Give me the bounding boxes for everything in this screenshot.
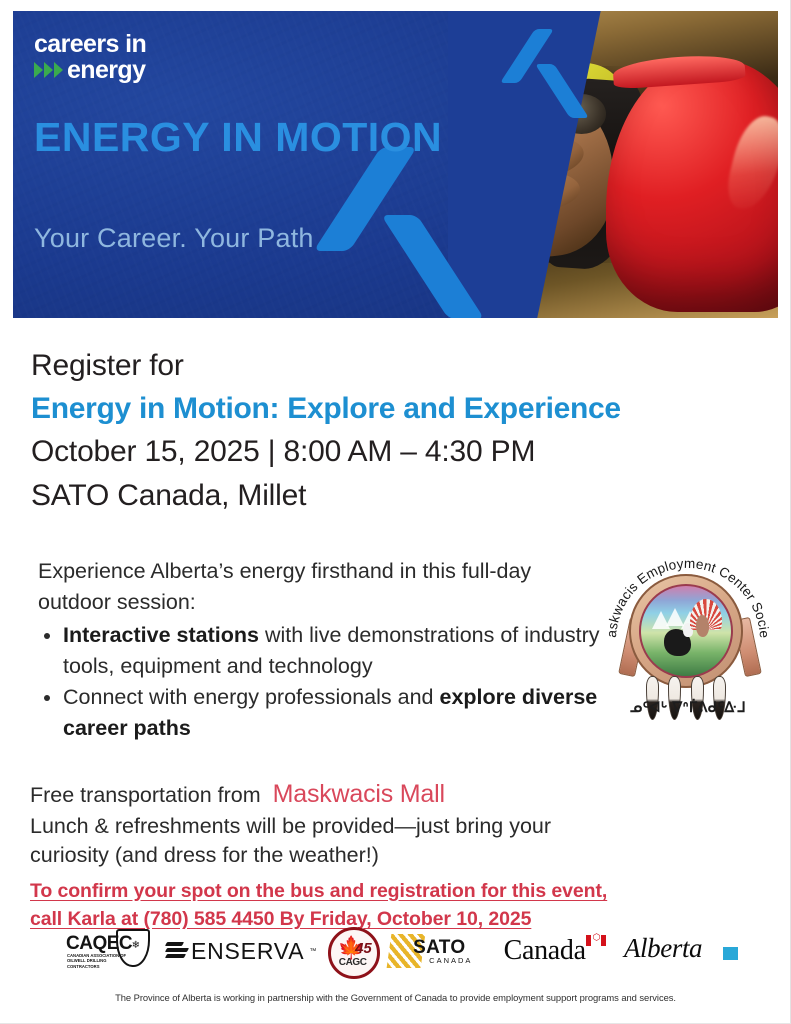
list-item: Connect with energy professionals and ex…	[63, 682, 603, 743]
register-label: Register for	[31, 344, 751, 388]
canada-flag-icon	[586, 935, 606, 946]
event-heading-block: Register for Energy in Motion: Explore a…	[31, 344, 751, 517]
session-highlights-list: Interactive stations with live demonstra…	[38, 620, 603, 744]
alberta-square-icon	[723, 947, 738, 960]
cagc-logo: 🍁 45 CAGC	[327, 926, 379, 976]
chevron-right-icon	[535, 27, 595, 107]
enserva-logo: ENSERVA ™	[166, 933, 316, 969]
cagc-circle-badge: 🍁 45 CAGC	[328, 927, 380, 979]
event-datetime: October 15, 2025 | 8:00 AM – 4:30 PM	[31, 430, 751, 474]
sato-canada-logo: SATO CANADA	[389, 930, 493, 972]
cagc-anniversary-number: 45	[355, 940, 372, 957]
flyer-page: careers in energy ENERGY IN MOTION Your …	[0, 0, 791, 1024]
government-of-canada-logo: Canada	[504, 933, 614, 969]
transport-prefix: Free transportation from	[30, 783, 261, 807]
maskwacis-employment-center-society-logo: Maskwacis Employment Center Society	[600, 548, 776, 728]
partnership-disclaimer: The Province of Alberta is working in pa…	[0, 992, 791, 1003]
event-venue: SATO Canada, Millet	[31, 474, 751, 518]
hero-photo	[448, 11, 778, 318]
trademark-symbol: ™	[309, 948, 316, 955]
enserva-wordmark: ENSERVA	[191, 938, 304, 965]
hero-banner: careers in energy ENERGY IN MOTION Your …	[13, 11, 778, 318]
event-title: Energy in Motion: Explore and Experience	[31, 388, 751, 431]
brand-line-1: careers in	[34, 32, 146, 56]
chief-head-shape	[696, 615, 709, 637]
triple-chevron-icon	[34, 62, 63, 78]
transport-block: Free transportation fromMaskwacis Mall L…	[30, 777, 620, 933]
maple-leaf-icon: ❄	[132, 941, 140, 951]
banner-subheadline: Your Career. Your Path	[34, 223, 314, 254]
transport-line-1: Free transportation fromMaskwacis Mall	[30, 777, 620, 812]
list-item: Interactive stations with live demonstra…	[63, 620, 603, 681]
brand-line-2: energy	[67, 58, 145, 82]
transport-line-2: Lunch & refreshments will be provided—ju…	[30, 812, 620, 842]
chief-shape	[688, 597, 724, 651]
sato-subtitle: CANADA	[429, 956, 472, 965]
intro-paragraph: Experience Alberta’s energy firsthand in…	[38, 556, 573, 617]
bullet-text: Connect with energy professionals and	[63, 685, 439, 709]
medallion-ring	[629, 574, 743, 688]
transport-line-3: curiosity (and dress for the weather!)	[30, 841, 620, 871]
canada-wordmark: Canada	[504, 935, 586, 967]
bullet-bold-lead: Interactive stations	[63, 623, 259, 647]
hard-hat-highlight	[722, 111, 778, 215]
government-of-alberta-logo: Alberta	[624, 933, 740, 969]
cagc-wordmark: CAGC	[339, 957, 367, 968]
caqec-logo: CAQEC CANADIAN ASSOCIATION OF OILWELL DR…	[60, 927, 156, 975]
pickup-location: Maskwacis Mall	[261, 780, 445, 808]
partner-logos-row: CAQEC CANADIAN ASSOCIATION OF OILWELL DR…	[60, 922, 740, 980]
chevron-right-icon	[381, 141, 493, 291]
medallion-scene	[639, 584, 733, 678]
cree-syllabics-text: ᓄᑦᐊᒡ ᐁᐢᒦᕕᑯᑦᐏᒧ	[600, 700, 776, 716]
careers-in-energy-logo: careers in energy	[34, 32, 146, 82]
enserva-mark-icon	[166, 940, 186, 962]
banner-headline: ENERGY IN MOTION	[34, 115, 442, 159]
alberta-wordmark: Alberta	[624, 933, 702, 964]
cta-line-1: To confirm your spot on the bus and regi…	[30, 877, 620, 905]
